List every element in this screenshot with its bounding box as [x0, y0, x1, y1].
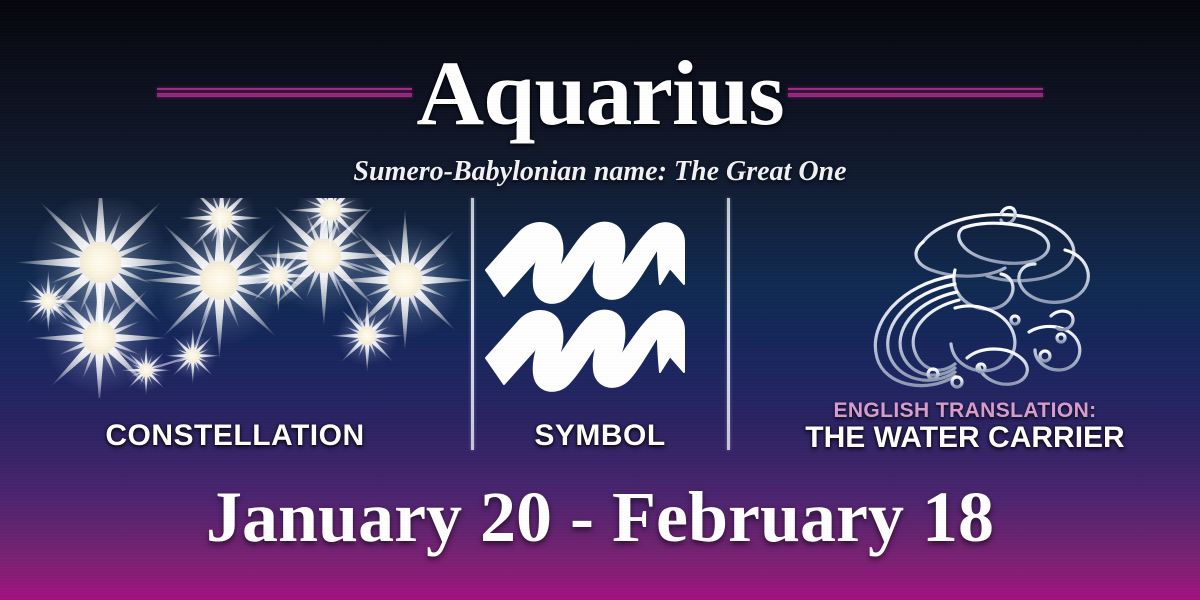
symbol-art [474, 198, 726, 398]
aquarius-glyph-icon [474, 198, 726, 398]
water-carrier-art [730, 198, 1200, 398]
panel-symbol: SYMBOL [474, 198, 726, 453]
title-rule-left [157, 87, 412, 98]
subtitle-sumero-babylonian-name: Sumero-Babylonian name: The Great One [0, 156, 1200, 188]
title-rule-right [788, 87, 1043, 98]
caption-translation-label: ENGLISH TRANSLATION: [730, 400, 1200, 421]
caption-symbol: SYMBOL [474, 419, 726, 453]
caption-constellation: CONSTELLATION [0, 419, 470, 453]
caption-translation-value: THE WATER CARRIER [730, 423, 1200, 453]
panel-translation: ENGLISH TRANSLATION: THE WATER CARRIER [730, 198, 1200, 453]
constellation-art [0, 198, 470, 398]
panel-constellation: CONSTELLATION [0, 198, 470, 453]
water-carrier-urn-icon [730, 198, 1200, 398]
title-row: Aquarius [0, 40, 1200, 145]
panels-row: CONSTELLATION SYMBOL [0, 198, 1200, 453]
caption-english-translation: ENGLISH TRANSLATION: THE WATER CARRIER [730, 400, 1200, 453]
constellation-star [120, 344, 172, 396]
date-range: January 20 - February 18 [0, 478, 1200, 556]
aquarius-constellation-icon [0, 198, 470, 398]
zodiac-poster: Aquarius Sumero-Babylonian name: The Gre… [0, 0, 1200, 600]
page-title: Aquarius [416, 47, 783, 139]
